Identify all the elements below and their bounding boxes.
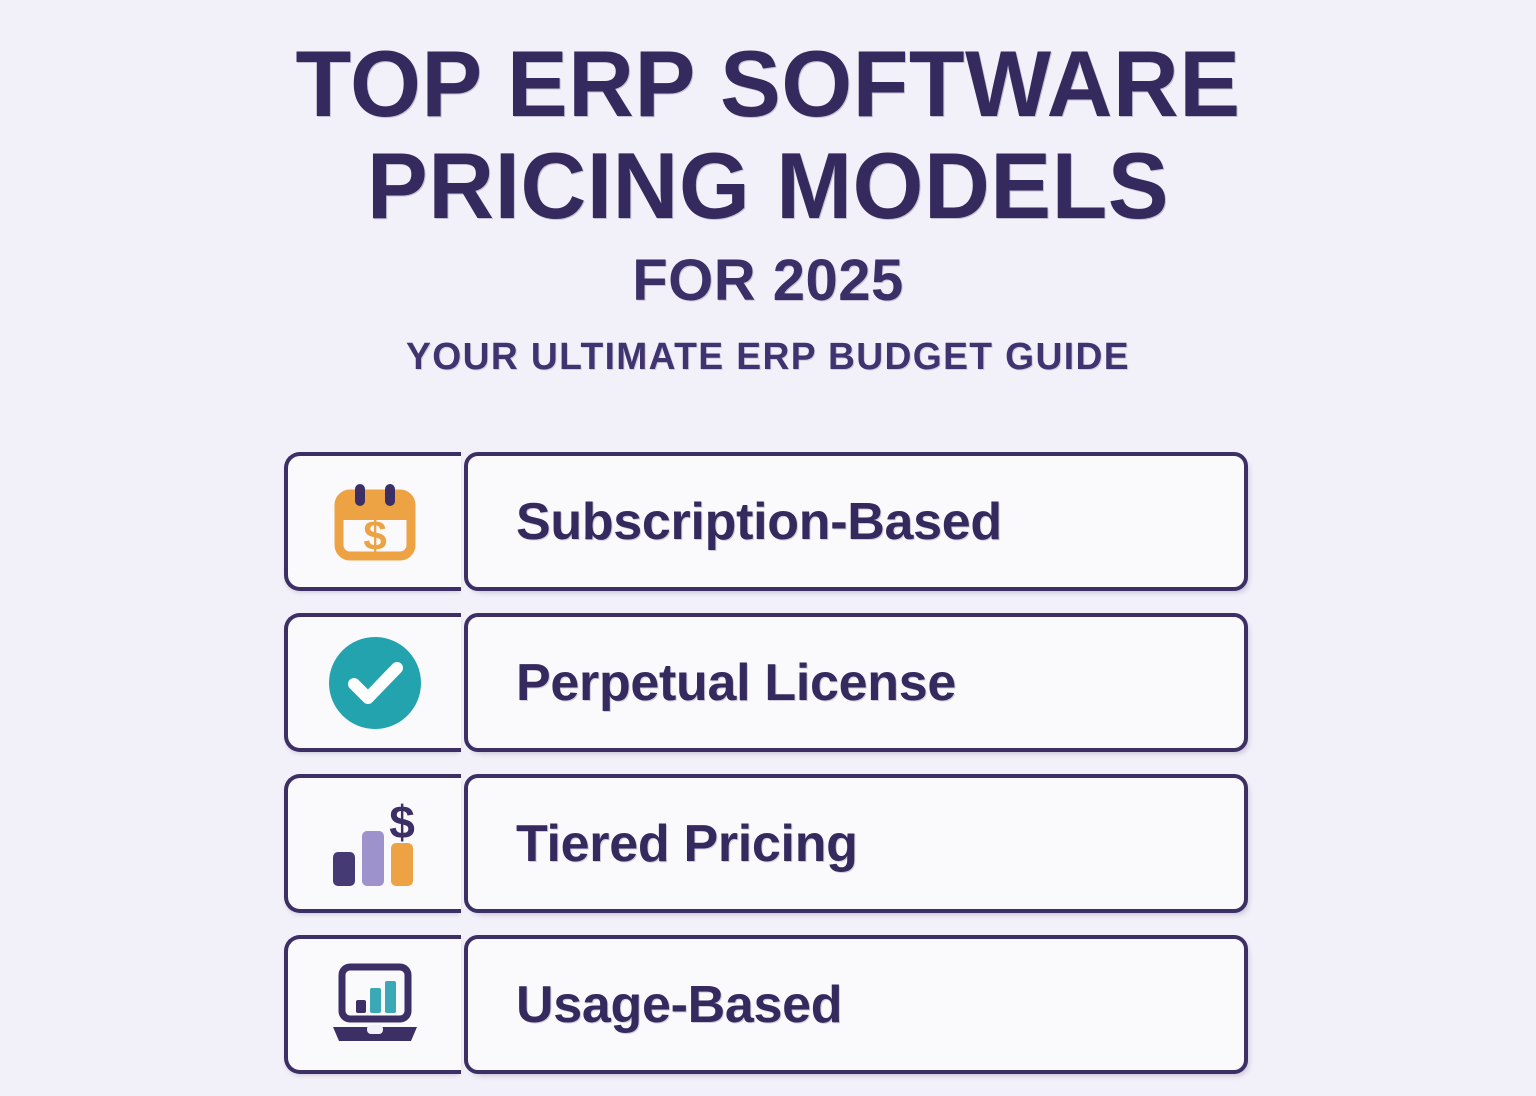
page-title-line-1: TOP ERP SOFTWARE: [23, 36, 1513, 132]
page-title-year: FOR 2025: [0, 252, 1536, 310]
svg-text:$: $: [389, 796, 415, 848]
check-circle-icon: [323, 631, 427, 735]
laptop-chart-icon: [323, 953, 427, 1057]
label-cell: Tiered Pricing: [464, 774, 1248, 913]
icon-cell: [284, 613, 461, 752]
icon-cell: $: [284, 774, 461, 913]
list-item-label: Tiered Pricing: [516, 818, 858, 870]
label-cell: Subscription-Based: [464, 452, 1248, 591]
svg-text:$: $: [363, 512, 386, 559]
list-item[interactable]: Usage-Based: [284, 935, 1248, 1074]
page-subtitle: YOUR ULTIMATE ERP BUDGET GUIDE: [15, 338, 1520, 376]
heading-block: TOP ERP SOFTWARE PRICING MODELS FOR 2025…: [0, 0, 1536, 376]
list-item[interactable]: $ Tiered Pricing: [284, 774, 1248, 913]
page-title-line-2: PRICING MODELS: [23, 138, 1513, 234]
pricing-model-list: $ Subscription-Based Perpetual License: [284, 452, 1248, 1096]
list-item-label: Perpetual License: [516, 657, 956, 709]
list-item[interactable]: Perpetual License: [284, 613, 1248, 752]
icon-cell: $: [284, 452, 461, 591]
label-cell: Perpetual License: [464, 613, 1248, 752]
list-item[interactable]: $ Subscription-Based: [284, 452, 1248, 591]
list-item-label: Subscription-Based: [516, 496, 1002, 548]
infographic-poster: TOP ERP SOFTWARE PRICING MODELS FOR 2025…: [0, 0, 1536, 1024]
icon-cell: [284, 935, 461, 1074]
label-cell: Usage-Based: [464, 935, 1248, 1074]
calendar-dollar-icon: $: [323, 470, 427, 574]
list-item-label: Usage-Based: [516, 979, 842, 1031]
bar-chart-dollar-icon: $: [323, 792, 427, 896]
